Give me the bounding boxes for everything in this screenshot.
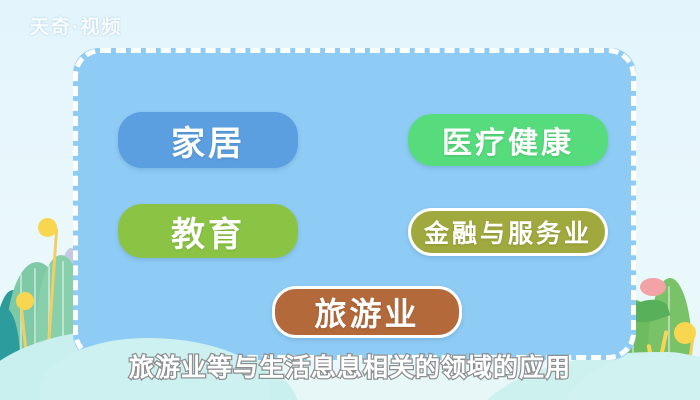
category-pill-tourism[interactable]: 旅游业	[272, 286, 462, 338]
category-pill-education[interactable]: 教育	[118, 204, 298, 258]
flower-bloom-right	[674, 322, 696, 344]
subtitle-caption: 旅游业等与生活息息相关的领域的应用	[0, 348, 700, 384]
category-pill-healthcare[interactable]: 医疗健康	[408, 114, 608, 166]
flower-bud-pink	[640, 278, 666, 296]
category-label: 家居	[171, 116, 245, 165]
video-frame: 家居 医疗健康 教育 金融与服务业 旅游业 天奇·视频 旅游业等与生活息息相关的…	[0, 0, 700, 400]
category-label: 旅游业	[314, 289, 419, 335]
category-pill-finance[interactable]: 金融与服务业	[408, 208, 608, 256]
category-pill-home[interactable]: 家居	[118, 112, 298, 168]
flower-bloom-tall	[38, 218, 57, 237]
category-label: 医疗健康	[442, 118, 574, 162]
category-label: 金融与服务业	[424, 214, 592, 250]
flower-bloom-short	[16, 292, 34, 310]
category-label: 教育	[171, 207, 245, 256]
watermark-logo: 天奇·视频	[30, 12, 122, 39]
